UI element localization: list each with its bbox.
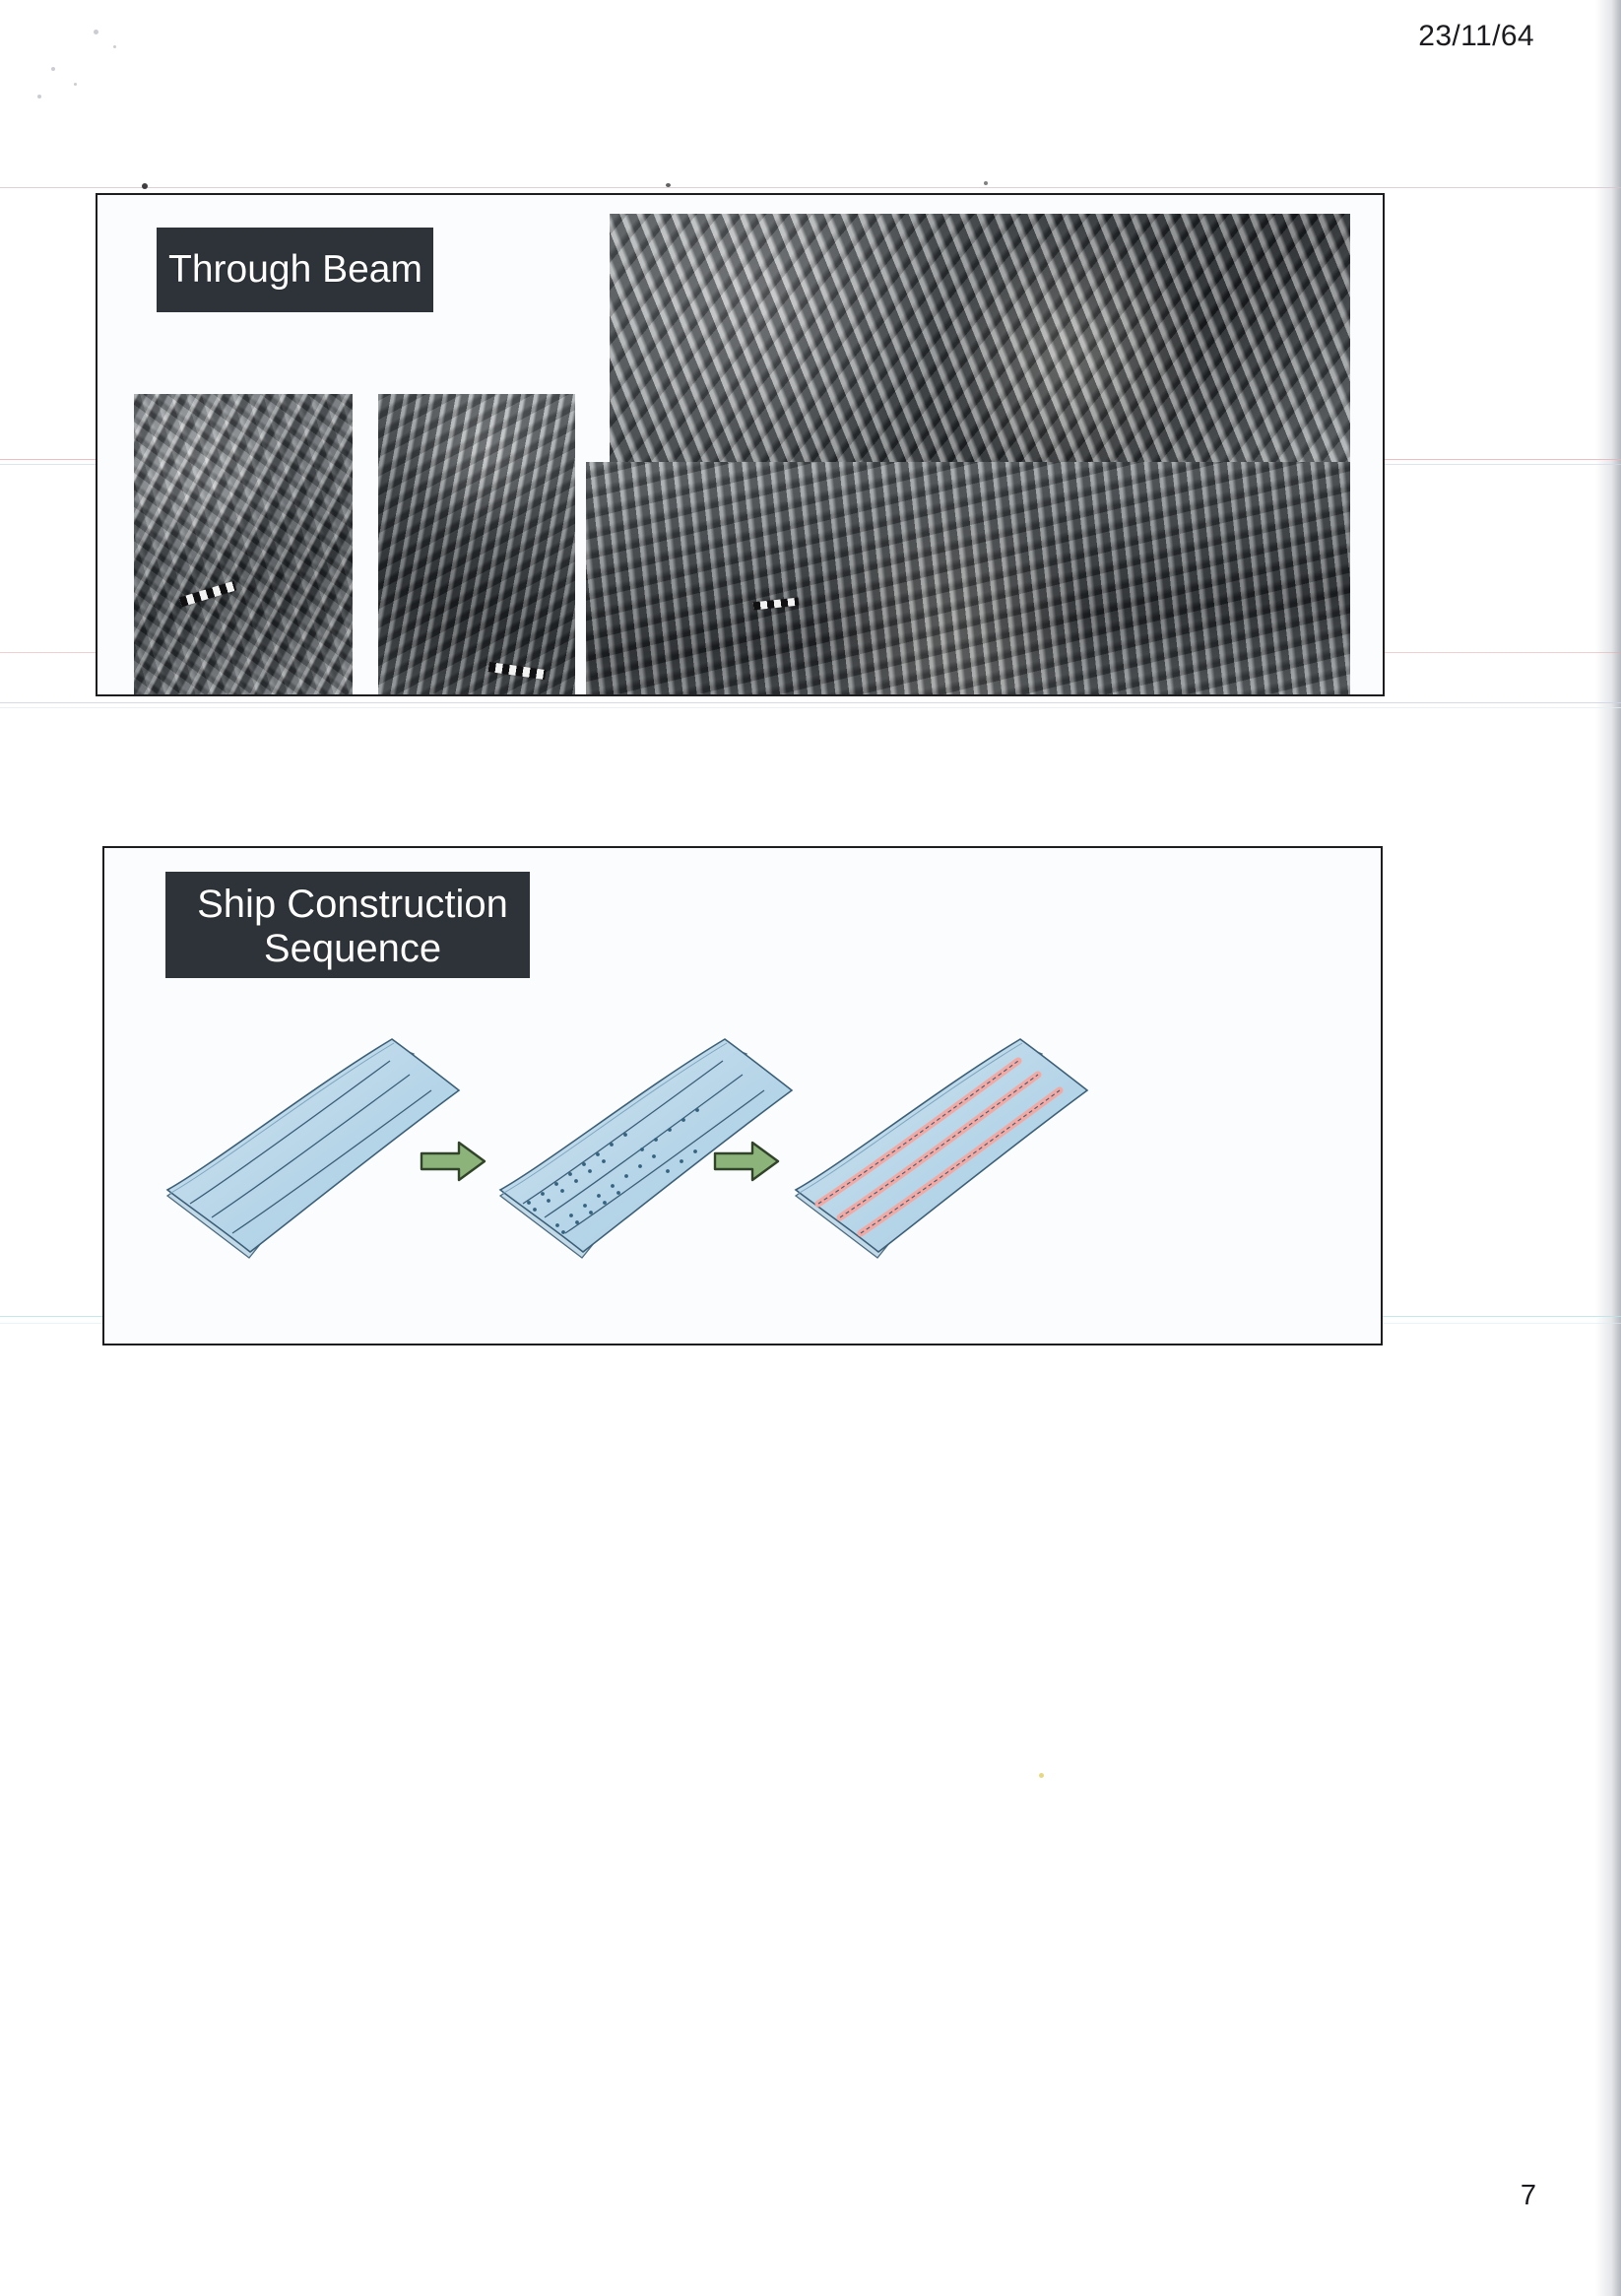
page-date-stamp: 23/11/64 (1418, 20, 1534, 53)
photo-texture (134, 394, 353, 694)
scan-line-artifact (0, 702, 1621, 703)
scan-speck (37, 95, 41, 98)
photo-excavation-beam-closeup-left (134, 394, 353, 694)
slide-title-line-1: Ship Construction (197, 883, 508, 927)
slide-title-text: Through Beam (168, 248, 422, 292)
scan-speck (94, 30, 98, 34)
photo-texture (586, 462, 1350, 694)
slide-title-banner-ship-construction: Ship Construction Sequence (165, 872, 530, 978)
scan-line-artifact (0, 187, 1621, 188)
wadding-strip-group (818, 1061, 1060, 1233)
slide-ship-construction-sequence: Ship Construction Sequence (102, 846, 1383, 1345)
arrow-right-icon (713, 1140, 782, 1183)
scan-speck (1039, 1773, 1044, 1778)
page-number: 7 (1521, 2180, 1536, 2212)
scan-edge-shadow (1595, 0, 1621, 2296)
scan-speck (666, 183, 671, 187)
arrow-right-icon (420, 1140, 488, 1183)
photo-texture (378, 394, 575, 694)
photo-excavation-beam-overview-bottom-right (586, 462, 1350, 694)
sequence-arrow-1-icon (420, 1140, 488, 1183)
slide-through-beam: Through Beam (96, 193, 1385, 696)
diagram-wadding-panel (784, 1016, 1099, 1272)
slide-title-line-2: Sequence (264, 927, 441, 971)
construction-sequence-diagram: 1.Planking (Carvel) 2.Drill Holes 3.Wadd… (104, 1016, 1381, 1341)
scan-speck (142, 183, 148, 189)
scan-speck (113, 45, 116, 48)
sequence-arrow-2-icon (713, 1140, 782, 1183)
photo-excavation-beam-closeup-middle (378, 394, 575, 694)
slide-title-banner-through-beam: Through Beam (157, 228, 433, 312)
wadding-svg (784, 1016, 1099, 1272)
photo-excavation-beam-overview-top-right (610, 214, 1350, 484)
scan-line-artifact (0, 707, 1621, 708)
scan-speck (984, 181, 988, 185)
scan-speck (74, 83, 77, 86)
scan-speck (51, 67, 55, 71)
photo-texture (610, 214, 1350, 484)
